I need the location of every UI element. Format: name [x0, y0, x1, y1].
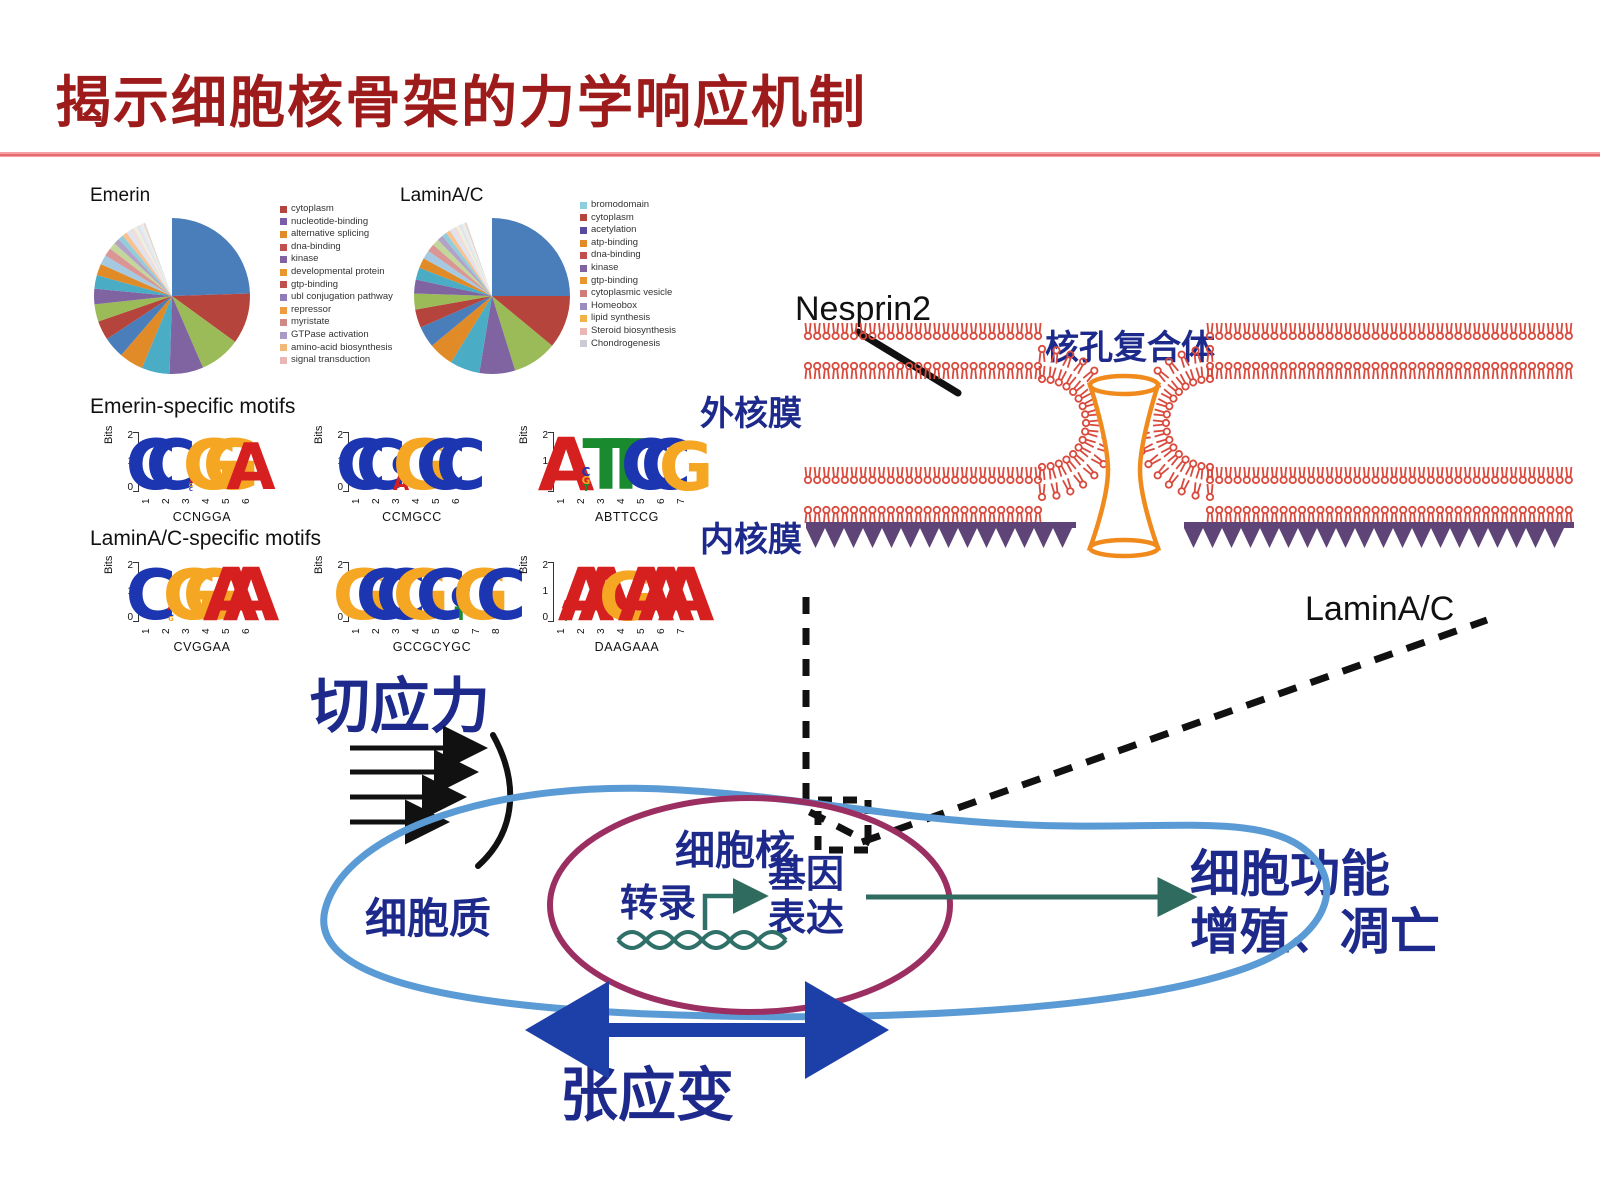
phospholipid-icon — [1520, 507, 1526, 523]
phospholipid-icon — [1153, 428, 1170, 437]
phospholipid-icon — [1299, 363, 1305, 379]
legend-item: gtp-binding — [280, 279, 393, 292]
legend-swatch-icon — [580, 328, 587, 335]
logo-letters: ACGTTTCCG — [556, 430, 696, 492]
phospholipid-icon — [1464, 467, 1470, 483]
phospholipid-icon — [1317, 323, 1323, 339]
phospholipid-icon — [1455, 467, 1461, 483]
transcription-arrow — [705, 896, 762, 930]
phospholipid-icon — [1016, 467, 1022, 483]
logo-axis-label: Bits — [103, 426, 115, 444]
phospholipid-icon — [814, 467, 820, 483]
cell-membrane-outline — [324, 788, 1327, 1016]
phospholipid-icon — [989, 363, 995, 379]
legend-label: dna-binding — [591, 249, 641, 262]
phospholipid-icon — [1051, 482, 1060, 499]
emerin-pie-chart — [90, 211, 290, 381]
phospholipid-icon — [924, 323, 930, 339]
phospholipid-icon — [1280, 467, 1286, 483]
phospholipid-icon — [823, 467, 829, 483]
phospholipid-icon — [1566, 507, 1572, 523]
phospholipid-icon — [1253, 507, 1259, 523]
legend-swatch-icon — [280, 294, 287, 301]
phospholipid-icon — [1039, 484, 1045, 500]
phospholipid-icon — [1446, 467, 1452, 483]
lamin-pie-chart — [400, 211, 600, 381]
phospholipid-icon — [1192, 347, 1201, 364]
legend-label: Homeobox — [591, 300, 637, 313]
phospholipid-icon — [1336, 323, 1342, 339]
legend-swatch-icon — [580, 303, 587, 310]
phospholipid-icon — [1207, 346, 1213, 362]
phospholipid-icon — [906, 467, 912, 483]
legend-item: dna-binding — [280, 241, 393, 254]
phospholipid-icon — [1455, 363, 1461, 379]
logo-axis-label: Bits — [103, 556, 115, 574]
phospholipid-icon — [970, 363, 976, 379]
membrane-svg — [690, 290, 1580, 650]
logo-axis-label: Bits — [313, 426, 325, 444]
phospholipid-icon — [1382, 363, 1388, 379]
phospholipid-icon — [1345, 323, 1351, 339]
phospholipid-icon — [1317, 507, 1323, 523]
phospholipid-icon — [1483, 507, 1489, 523]
logo-position: 5 — [221, 623, 241, 639]
phospholipid-icon — [1382, 507, 1388, 523]
emerin-pie-title: Emerin — [90, 185, 290, 207]
phospholipid-icon — [823, 323, 829, 339]
legend-swatch-icon — [280, 269, 287, 276]
phospholipid-icon — [1035, 507, 1041, 523]
logo-letter: C — [436, 440, 487, 492]
phospholipid-icon — [952, 363, 958, 379]
phospholipid-icon — [1225, 363, 1231, 379]
phospholipid-icon — [1039, 464, 1045, 480]
phospholipid-icon — [998, 363, 1004, 379]
phospholipid-icon — [1529, 507, 1535, 523]
legend-label: gtp-binding — [291, 279, 338, 292]
logo-axis-label: Bits — [518, 426, 530, 444]
phospholipid-icon — [832, 467, 838, 483]
phospholipid-icon — [1244, 467, 1250, 483]
phospholipid-icon — [1153, 409, 1170, 418]
phospholipid-icon — [1144, 454, 1161, 468]
legend-item: myristate — [280, 316, 393, 329]
phospholipid-icon — [1225, 467, 1231, 483]
legend-item: lipid synthesis — [580, 312, 676, 325]
phospholipid-icon — [1372, 363, 1378, 379]
phospholipid-icon — [989, 507, 995, 523]
logo-position: 4 — [411, 623, 431, 639]
phospholipid-icon — [1437, 363, 1443, 379]
phospholipid-icon — [1501, 363, 1507, 379]
phospholipid-icon — [814, 507, 820, 523]
pie-slice — [172, 218, 250, 296]
phospholipid-icon — [1354, 363, 1360, 379]
phospholipid-icon — [805, 507, 811, 523]
phospholipid-icon — [1081, 428, 1098, 437]
logo-position: 6 — [451, 493, 471, 509]
logo-position: 2 — [161, 493, 181, 509]
phospholipid-icon — [1382, 467, 1388, 483]
logo-position-numbers: 123456 — [141, 623, 261, 639]
phospholipid-icon — [1262, 507, 1268, 523]
phospholipid-icon — [1510, 467, 1516, 483]
phospholipid-icon — [1391, 323, 1397, 339]
legend-label: myristate — [291, 316, 330, 329]
phospholipid-icon — [1308, 467, 1314, 483]
legend-swatch-icon — [280, 206, 287, 213]
logo-stack: A — [241, 444, 261, 492]
logo-position: 5 — [431, 623, 451, 639]
phospholipid-icon — [1446, 323, 1452, 339]
phospholipid-icon — [915, 507, 921, 523]
legend-label: signal transduction — [291, 354, 370, 367]
phospholipid-icon — [1164, 357, 1178, 374]
phospholipid-icon — [1178, 478, 1190, 495]
legend-item: Steroid biosynthesis — [580, 325, 676, 338]
phospholipid-icon — [1207, 507, 1213, 523]
phospholipid-icon — [823, 507, 829, 523]
legend-label: dna-binding — [291, 241, 341, 254]
lamin-pie-panel: LaminA/C bromodomaincytoplasmacetylation… — [400, 185, 600, 381]
lamina-right — [1184, 522, 1574, 548]
phospholipid-icon — [1391, 363, 1397, 379]
phospholipid-icon — [952, 467, 958, 483]
phospholipid-icon — [1455, 507, 1461, 523]
phospholipid-icon — [1372, 323, 1378, 339]
lamin-motifs-heading: LaminA/C-specific motifs — [90, 527, 321, 551]
legend-swatch-icon — [580, 277, 587, 284]
phospholipid-icon — [1556, 323, 1562, 339]
phospholipid-icon — [934, 323, 940, 339]
nucleus-outline — [550, 798, 950, 1012]
logo-consensus: CCMGCC — [345, 510, 479, 524]
phospholipid-icon — [878, 323, 884, 339]
phospholipid-icon — [943, 467, 949, 483]
logo-position: 2 — [161, 623, 181, 639]
phospholipid-icon — [1336, 507, 1342, 523]
phospholipid-icon — [1271, 507, 1277, 523]
phospholipid-icon — [814, 323, 820, 339]
phospholipid-icon — [1538, 467, 1544, 483]
phospholipid-icon — [924, 467, 930, 483]
lamin-pie-legend: bromodomaincytoplasmacetylationatp-bindi… — [580, 199, 676, 350]
phospholipid-icon — [897, 363, 903, 379]
logo-position: 3 — [391, 623, 411, 639]
phospholipid-icon — [1345, 467, 1351, 483]
phospholipid-icon — [1047, 366, 1056, 383]
legend-label: Steroid biosynthesis — [591, 325, 676, 338]
phospholipid-icon — [814, 363, 820, 379]
phospholipid-icon — [1409, 363, 1415, 379]
phospholipid-icon — [869, 467, 875, 483]
logo-position: 1 — [556, 493, 576, 509]
logo-stack: C — [431, 570, 451, 622]
phospholipid-icon — [1354, 507, 1360, 523]
phospholipid-icon — [1566, 323, 1572, 339]
lamina-teeth — [806, 528, 1072, 548]
phospholipid-icon — [1492, 363, 1498, 379]
phospholipid-icon — [1418, 363, 1424, 379]
logo-position-numbers: 12345678 — [351, 623, 511, 639]
phospholipid-icon — [970, 507, 976, 523]
legend-label: lipid synthesis — [591, 312, 650, 325]
phospholipid-icon — [805, 323, 811, 339]
logo-position: 6 — [241, 623, 261, 639]
logo-position: 4 — [616, 493, 636, 509]
legend-item: nucleotide-binding — [280, 216, 393, 229]
phospholipid-icon — [1437, 467, 1443, 483]
phospholipid-icon — [1007, 467, 1013, 483]
phospholipid-icon — [1345, 507, 1351, 523]
phospholipid-icon — [1326, 507, 1332, 523]
phospholipid-icon — [1083, 464, 1099, 480]
legend-label: GTPase activation — [291, 329, 369, 342]
phospholipid-icon — [1039, 366, 1045, 382]
lamina-teeth — [1184, 528, 1564, 548]
logo-position-numbers: 1234567 — [556, 493, 696, 509]
legend-label: repressor — [291, 304, 331, 317]
logo-position: 6 — [241, 493, 261, 509]
phospholipid-icon — [888, 363, 894, 379]
phospholipid-icon — [1428, 323, 1434, 339]
phospholipid-icon — [1216, 323, 1222, 339]
legend-swatch-icon — [580, 315, 587, 322]
logo-position-numbers: 123456 — [141, 493, 261, 509]
phospholipid-icon — [1556, 363, 1562, 379]
phospholipid-icon — [1271, 323, 1277, 339]
phospholipid-icon — [1418, 323, 1424, 339]
legend-swatch-icon — [580, 290, 587, 297]
phospholipid-icon — [998, 323, 1004, 339]
phospholipid-icon — [1409, 323, 1415, 339]
legend-item: Homeobox — [580, 300, 676, 313]
legend-item: Chondrogenesis — [580, 338, 676, 351]
phospholipid-icon — [1418, 507, 1424, 523]
phospholipid-icon — [1062, 350, 1074, 367]
legend-label: amino-acid biosynthesis — [291, 342, 392, 355]
phospholipid-icon — [1234, 507, 1240, 523]
phospholipid-icon — [970, 323, 976, 339]
phospholipid-icon — [1317, 467, 1323, 483]
phospholipid-icon — [1510, 323, 1516, 339]
phospholipid-icon — [1538, 323, 1544, 339]
phospholipid-icon — [1474, 467, 1480, 483]
phospholipid-icon — [1547, 507, 1553, 523]
phospholipid-icon — [842, 323, 848, 339]
phospholipid-icon — [1026, 323, 1032, 339]
phospholipid-icon — [897, 467, 903, 483]
phospholipid-icon — [897, 323, 903, 339]
phospholipid-icon — [832, 507, 838, 523]
phospholipid-icon — [832, 363, 838, 379]
phospholipid-icon — [1547, 467, 1553, 483]
phospholipid-icon — [878, 507, 884, 523]
legend-swatch-icon — [580, 227, 587, 234]
legend-label: nucleotide-binding — [291, 216, 368, 229]
phospholipid-icon — [1455, 323, 1461, 339]
legend-label: Chondrogenesis — [591, 338, 660, 351]
legend-label: cytoplasm — [291, 203, 334, 216]
logo-stack: C — [141, 570, 161, 622]
logo-position: 4 — [411, 493, 431, 509]
phospholipid-icon — [1464, 363, 1470, 379]
phospholipid-icon — [1474, 363, 1480, 379]
phospholipid-icon — [1538, 363, 1544, 379]
logo-letters: CCCAGCC — [351, 430, 471, 492]
legend-swatch-icon — [280, 319, 287, 326]
logo-stack: C — [161, 440, 181, 492]
phospholipid-icon — [832, 323, 838, 339]
legend-label: bromodomain — [591, 199, 649, 212]
legend-item: amino-acid biosynthesis — [280, 342, 393, 355]
logo-position: 2 — [576, 623, 596, 639]
phospholipid-icon — [1391, 467, 1397, 483]
phospholipid-icon — [934, 507, 940, 523]
lamina-bar — [1184, 522, 1574, 528]
legend-swatch-icon — [580, 240, 587, 247]
phospholipid-icon — [1409, 467, 1415, 483]
phospholipid-icon — [1026, 467, 1032, 483]
phospholipid-icon — [1437, 507, 1443, 523]
phospholipid-icon — [1299, 507, 1305, 523]
phospholipid-icon — [1345, 363, 1351, 379]
phospholipid-icon — [989, 467, 995, 483]
phospholipid-icon — [860, 363, 866, 379]
logo-position: 1 — [351, 623, 371, 639]
logo-letters: CACGGGAA — [141, 560, 261, 622]
phospholipid-icon — [1308, 363, 1314, 379]
legend-swatch-icon — [280, 244, 287, 251]
logo-position: 6 — [451, 623, 471, 639]
emerin-motifs-heading: Emerin-specific motifs — [90, 395, 295, 419]
phospholipid-icon — [1464, 323, 1470, 339]
legend-swatch-icon — [280, 307, 287, 314]
phospholipid-icon — [1400, 323, 1406, 339]
phospholipid-icon — [980, 467, 986, 483]
phospholipid-icon — [888, 467, 894, 483]
phospholipid-icon — [1520, 323, 1526, 339]
phospholipid-icon — [970, 467, 976, 483]
phospholipid-icon — [842, 467, 848, 483]
phospholipid-icon — [1253, 323, 1259, 339]
legend-label: cytoplasm — [591, 212, 634, 225]
phospholipid-icon — [1153, 464, 1169, 480]
phospholipid-icon — [1047, 462, 1056, 479]
phospholipid-icon — [1510, 507, 1516, 523]
emerin-pie-panel: Emerin cytoplasmnucleotide-bindingaltern… — [90, 185, 290, 381]
phospholipid-icon — [924, 507, 930, 523]
phospholipid-icon — [1083, 420, 1099, 426]
phospholipid-icon — [1520, 363, 1526, 379]
legend-item: cytoplasm — [580, 212, 676, 225]
logo-axis-label: Bits — [313, 556, 325, 574]
phospholipid-icon — [1501, 323, 1507, 339]
logo-position-numbers: 1234567 — [556, 623, 696, 639]
phospholipid-icon — [1026, 507, 1032, 523]
legend-swatch-icon — [580, 252, 587, 259]
lamina-left — [806, 522, 1076, 548]
phospholipid-icon — [1308, 323, 1314, 339]
phospholipid-icon — [1280, 363, 1286, 379]
logo-position: 8 — [491, 623, 511, 639]
phospholipid-icon — [1501, 467, 1507, 483]
emerin-pie-legend: cytoplasmnucleotide-bindingalternative s… — [280, 203, 393, 367]
phospholipid-icon — [1538, 507, 1544, 523]
logo-consensus: ABTTCCG — [550, 510, 704, 524]
logo-stack: C — [451, 440, 471, 492]
legend-item: bromodomain — [580, 199, 676, 212]
logo-position: 4 — [201, 623, 221, 639]
legend-item: developmental protein — [280, 266, 393, 279]
legend-item: alternative splicing — [280, 228, 393, 241]
phospholipid-icon — [1244, 323, 1250, 339]
phospholipid-icon — [1317, 363, 1323, 379]
phospholipid-icon — [989, 323, 995, 339]
phospholipid-icon — [1290, 323, 1296, 339]
phospholipid-icon — [1039, 346, 1045, 362]
logo-position: 1 — [351, 493, 371, 509]
legend-item: kinase — [280, 253, 393, 266]
phospholipid-icon — [1178, 350, 1190, 367]
phospholipid-icon — [952, 323, 958, 339]
phospholipid-icon — [1483, 363, 1489, 379]
legend-label: kinase — [591, 262, 618, 275]
phospholipid-icon — [1216, 507, 1222, 523]
phospholipid-icon — [1207, 484, 1213, 500]
phospholipid-icon — [1308, 507, 1314, 523]
legend-swatch-icon — [280, 256, 287, 263]
phospholipid-icon — [1483, 323, 1489, 339]
phospholipid-icon — [1234, 323, 1240, 339]
logo-position: 6 — [656, 493, 676, 509]
logo-position-numbers: 123456 — [351, 493, 471, 509]
logo-position: 3 — [391, 493, 411, 509]
phospholipid-icon — [1409, 507, 1415, 523]
logo-position: 2 — [371, 493, 391, 509]
phospholipid-icon — [1418, 467, 1424, 483]
phospholipid-icon — [1035, 323, 1041, 339]
logo-axis-bar — [548, 562, 554, 622]
phospholipid-icon — [1326, 363, 1332, 379]
legend-item: acetylation — [580, 224, 676, 237]
phospholipid-icon — [1520, 467, 1526, 483]
phospholipid-icon — [1446, 363, 1452, 379]
phospholipid-icon — [1382, 323, 1388, 339]
phospholipid-icon — [1510, 363, 1516, 379]
phospholipid-icon — [1007, 363, 1013, 379]
phospholipid-icon — [869, 507, 875, 523]
phospholipid-icon — [1428, 507, 1434, 523]
legend-label: cytoplasmic vesicle — [591, 287, 672, 300]
logo-position: 3 — [181, 493, 201, 509]
phospholipid-icon — [1363, 467, 1369, 483]
phospholipid-icon — [934, 467, 940, 483]
phospholipid-icon — [1196, 462, 1205, 479]
dna-helix-icon — [618, 932, 786, 948]
logo-letter: A — [226, 444, 275, 492]
phospholipid-icon — [1196, 366, 1205, 383]
logo-position: 3 — [596, 623, 616, 639]
lamina-bar — [806, 522, 1076, 528]
cell-schematic: 切应力 细胞质 细胞核 转录 基因 表达 细胞功能 增殖、凋亡 张应变 — [250, 640, 1600, 1180]
phospholipid-icon — [1026, 363, 1032, 379]
phospholipid-icon — [1556, 507, 1562, 523]
phospholipid-icon — [1073, 357, 1087, 374]
phospholipid-icon — [1400, 507, 1406, 523]
phospholipid-icon — [1244, 363, 1250, 379]
